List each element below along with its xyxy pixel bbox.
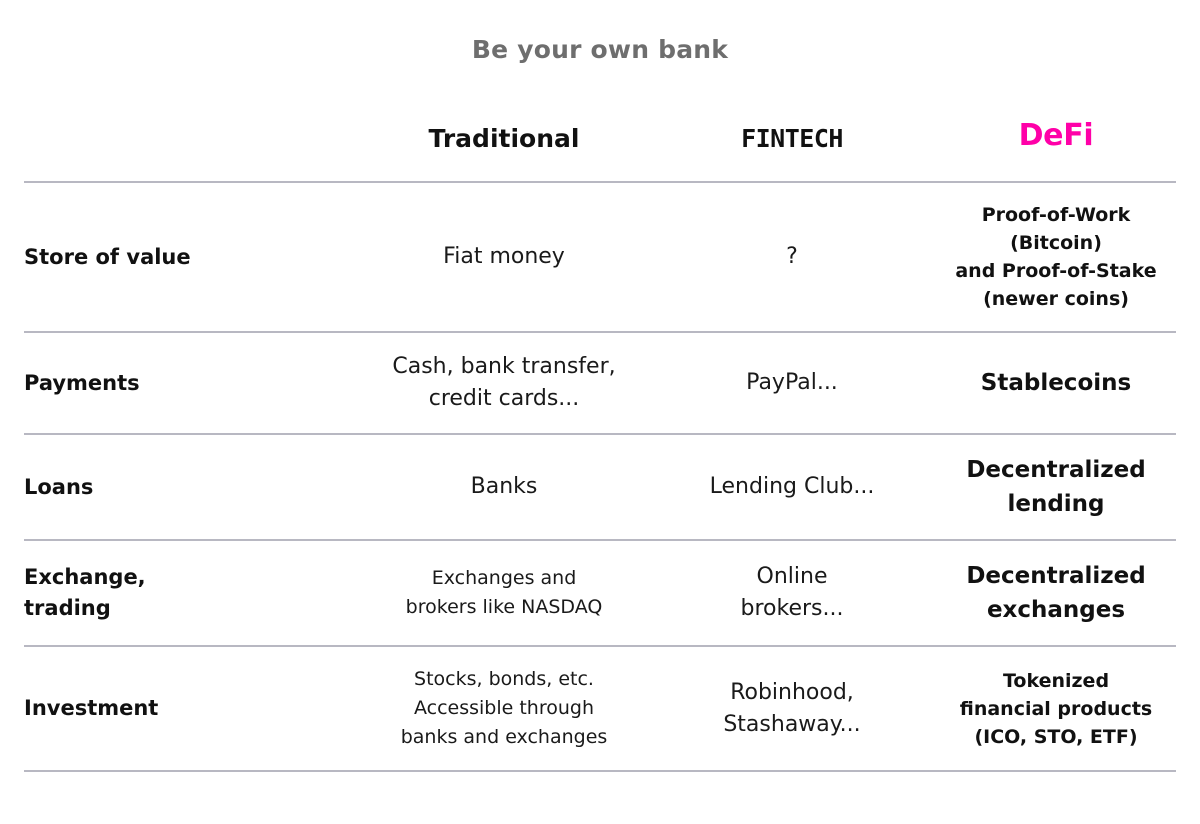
row-label: Store of value: [24, 182, 360, 332]
comparison-table: Traditional FINTECH DeFi Store of valueF…: [24, 118, 1176, 772]
row-label: Investment: [24, 646, 360, 771]
cell-defi: Tokenizedfinancial products(ICO, STO, ET…: [936, 646, 1176, 771]
cell-line: Proof-of-Work (Bitcoin): [942, 201, 1170, 257]
page-title: Be your own bank: [0, 34, 1200, 66]
row-label: Exchange,trading: [24, 540, 360, 646]
row-label: Payments: [24, 332, 360, 434]
table-header: Traditional FINTECH DeFi: [24, 118, 1176, 182]
cell-fintech: Lending Club...: [648, 434, 936, 540]
cell-line: trading: [24, 593, 354, 624]
cell-traditional: Fiat money: [360, 182, 648, 332]
table-row: Exchange,tradingExchanges andbrokers lik…: [24, 540, 1176, 646]
cell-defi: Stablecoins: [936, 332, 1176, 434]
cell-line: exchanges: [942, 593, 1170, 627]
column-header-traditional: Traditional: [360, 118, 648, 182]
cell-defi: Proof-of-Work (Bitcoin)and Proof-of-Stak…: [936, 182, 1176, 332]
cell-line: Accessible through: [366, 694, 642, 723]
cell-line: brokers...: [654, 593, 930, 625]
column-header-defi: DeFi: [936, 118, 1176, 182]
table-row: LoansBanksLending Club...Decentralizedle…: [24, 434, 1176, 540]
cell-line: (newer coins): [942, 285, 1170, 313]
cell-line: Decentralized: [942, 453, 1170, 487]
cell-defi: Decentralizedlending: [936, 434, 1176, 540]
table-row: PaymentsCash, bank transfer,credit cards…: [24, 332, 1176, 434]
cell-line: Decentralized: [942, 559, 1170, 593]
cell-line: financial products: [942, 695, 1170, 723]
cell-line: Exchange,: [24, 562, 354, 593]
table-header-row: Traditional FINTECH DeFi: [24, 118, 1176, 182]
cell-line: banks and exchanges: [366, 723, 642, 752]
cell-defi: Decentralizedexchanges: [936, 540, 1176, 646]
cell-fintech: ?: [648, 182, 936, 332]
table-row: InvestmentStocks, bonds, etc.Accessible …: [24, 646, 1176, 771]
cell-line: ?: [654, 241, 930, 273]
cell-fintech: Robinhood,Stashaway...: [648, 646, 936, 771]
cell-traditional: Cash, bank transfer,credit cards...: [360, 332, 648, 434]
cell-line: Fiat money: [366, 241, 642, 273]
cell-line: Cash, bank transfer,: [366, 351, 642, 383]
cell-line: Investment: [24, 693, 354, 724]
cell-line: credit cards...: [366, 383, 642, 415]
cell-line: Tokenized: [942, 667, 1170, 695]
cell-traditional: Exchanges andbrokers like NASDAQ: [360, 540, 648, 646]
cell-line: Banks: [366, 471, 642, 503]
table-row: Store of valueFiat money?Proof-of-Work (…: [24, 182, 1176, 332]
cell-line: brokers like NASDAQ: [366, 593, 642, 622]
cell-fintech: Onlinebrokers...: [648, 540, 936, 646]
cell-traditional: Banks: [360, 434, 648, 540]
cell-line: and Proof-of-Stake: [942, 257, 1170, 285]
cell-line: Lending Club...: [654, 471, 930, 503]
cell-line: Stocks, bonds, etc.: [366, 665, 642, 694]
column-header-fintech: FINTECH: [648, 118, 936, 182]
table-body: Store of valueFiat money?Proof-of-Work (…: [24, 182, 1176, 771]
cell-line: Payments: [24, 368, 354, 399]
cell-line: Online: [654, 561, 930, 593]
cell-line: Loans: [24, 472, 354, 503]
cell-line: Stashaway...: [654, 709, 930, 741]
cell-line: PayPal...: [654, 367, 930, 399]
cell-line: Store of value: [24, 242, 354, 273]
cell-line: Stablecoins: [942, 366, 1170, 400]
cell-line: Robinhood,: [654, 677, 930, 709]
cell-line: (ICO, STO, ETF): [942, 723, 1170, 751]
slide-canvas: Be your own bank Traditional FINTECH DeF…: [0, 0, 1200, 824]
cell-line: lending: [942, 487, 1170, 521]
cell-fintech: PayPal...: [648, 332, 936, 434]
row-label: Loans: [24, 434, 360, 540]
column-header-category: [24, 118, 360, 182]
cell-line: Exchanges and: [366, 564, 642, 593]
cell-traditional: Stocks, bonds, etc.Accessible throughban…: [360, 646, 648, 771]
